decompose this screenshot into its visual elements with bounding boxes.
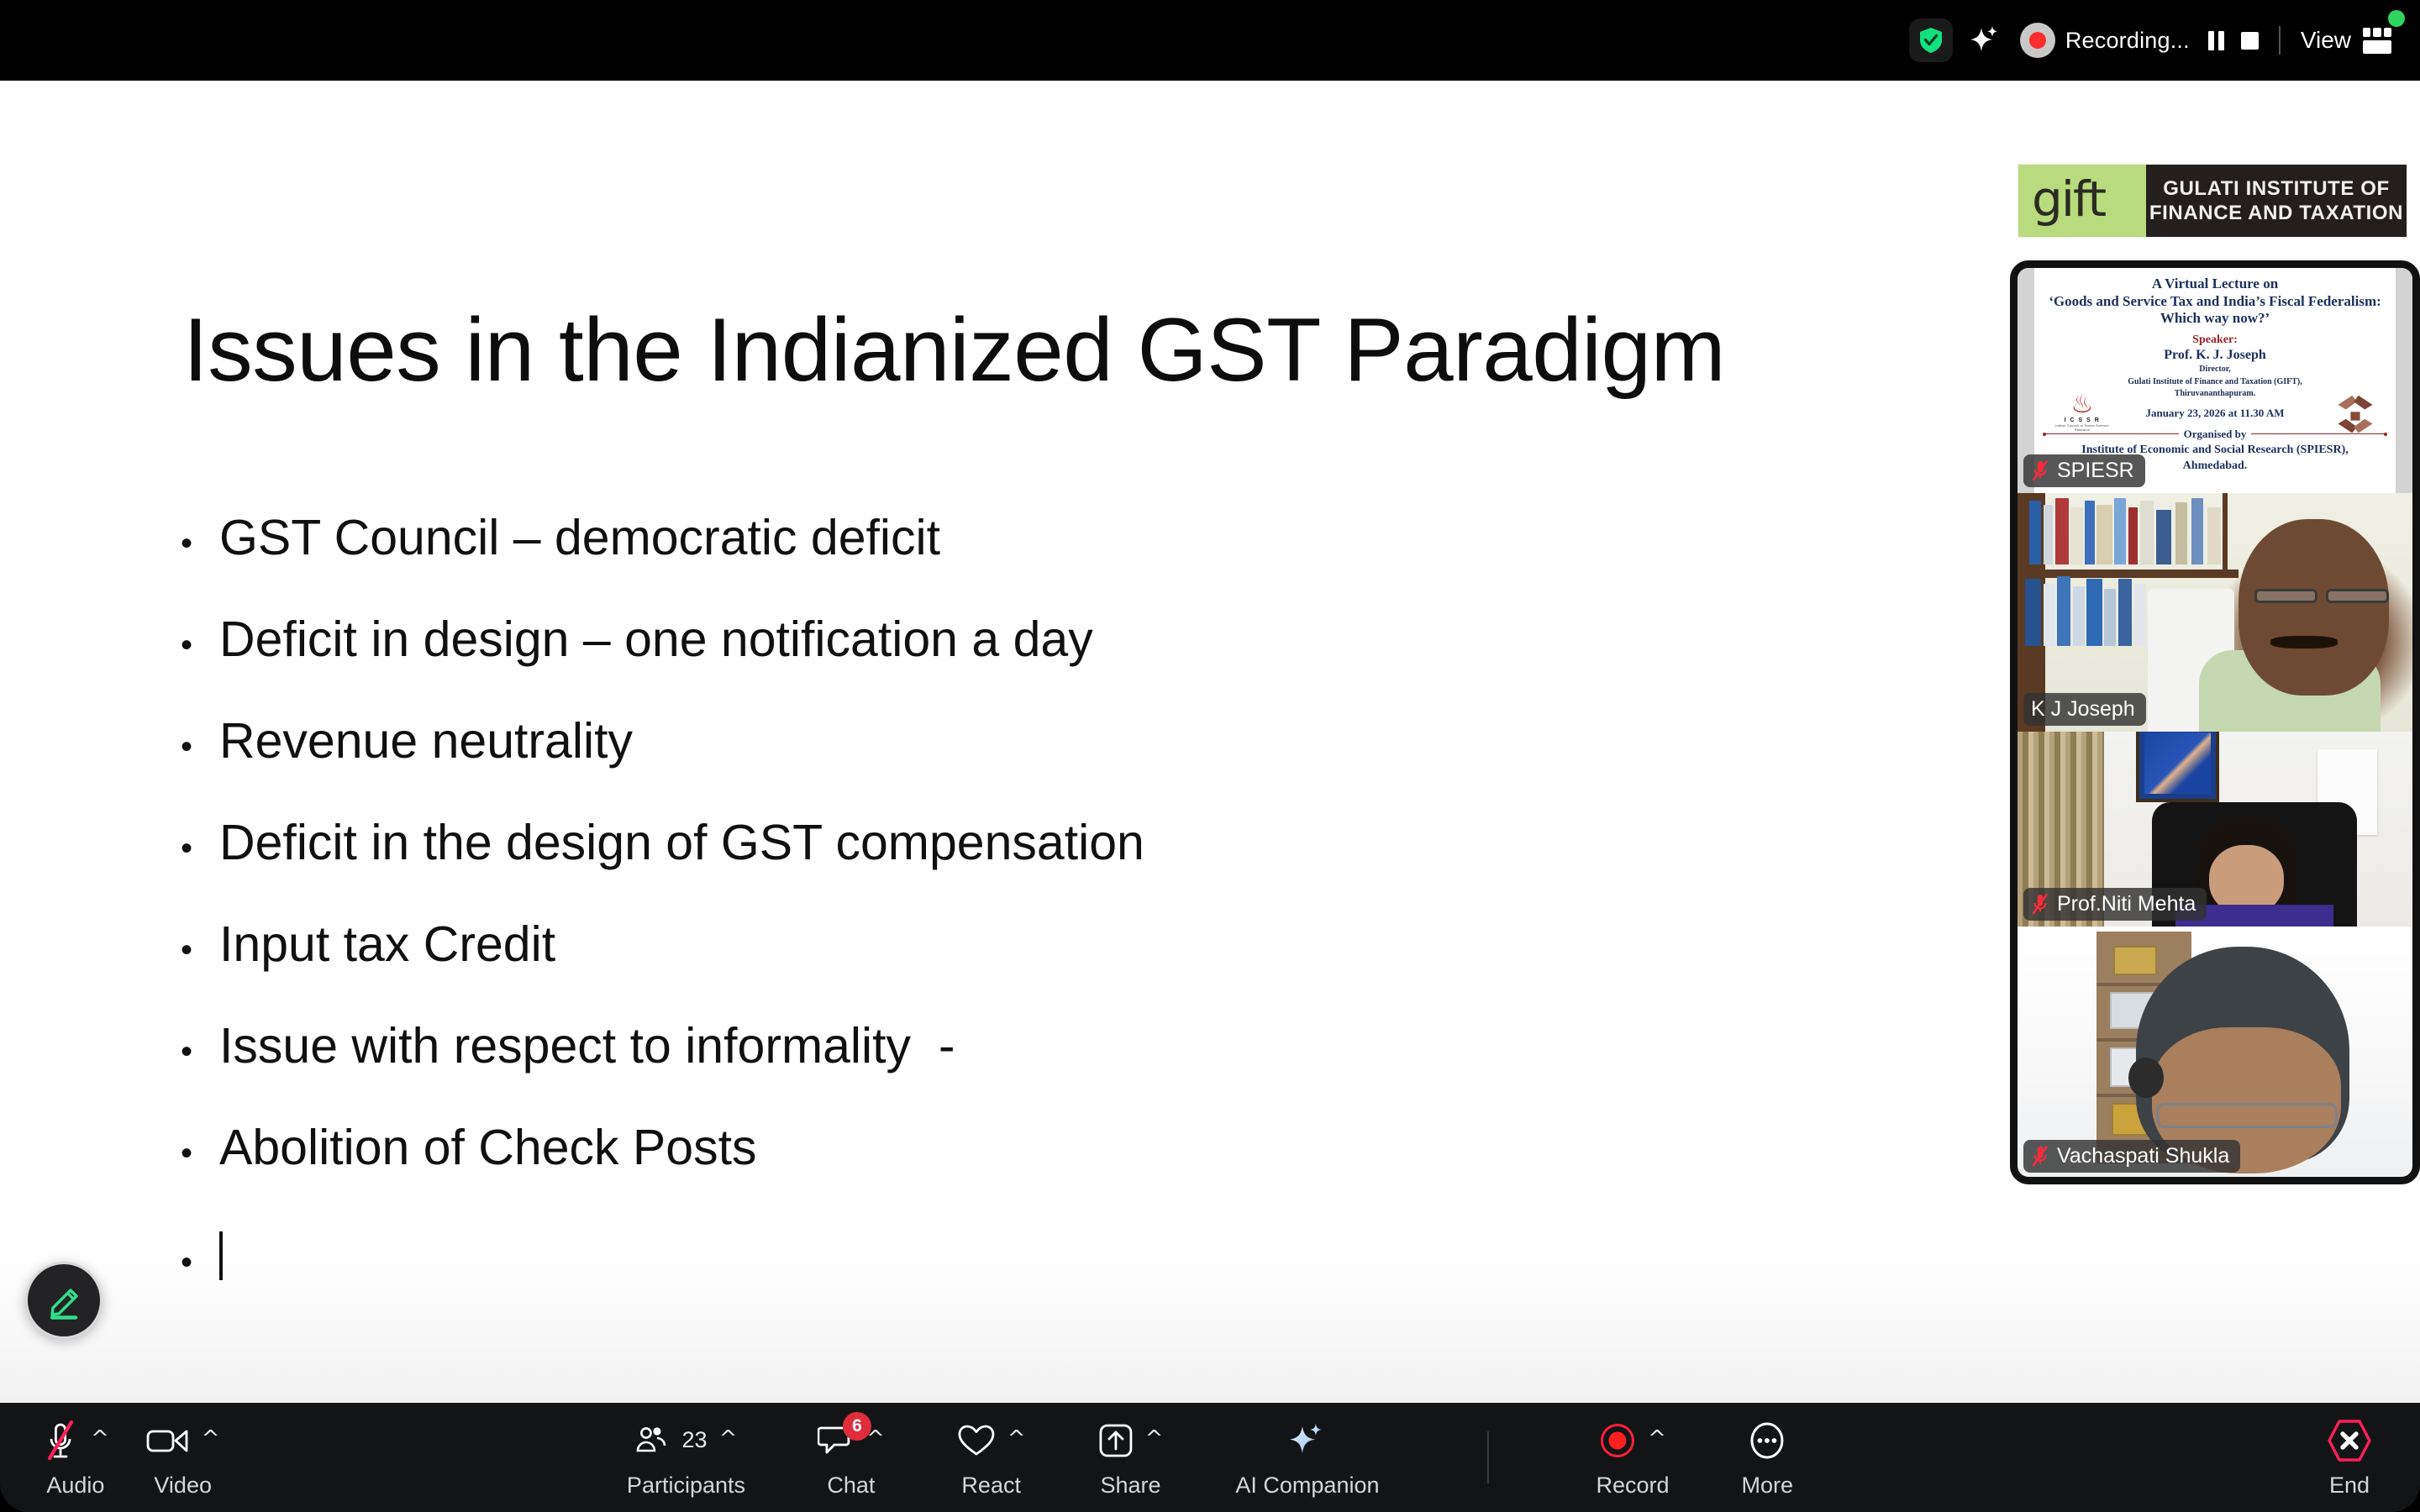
annotate-pencil-button[interactable] [25, 1262, 103, 1339]
poster-line-2: ‘Goods and Service Tax and India’s Fisca… [2049, 293, 2381, 311]
shield-check-icon[interactable] [1909, 18, 1953, 62]
toolbar-divider [2279, 26, 2281, 55]
participant-name-badge: SPIESR [2023, 454, 2145, 487]
record-button-label: Record [1597, 1473, 1670, 1499]
bullet-marker: • [181, 1035, 219, 1068]
meeting-top-bar: Recording... View [0, 0, 2420, 81]
gift-logo-line1: GULATI INSTITUTE OF [2163, 176, 2390, 201]
poster-organised-by: Organised by [2184, 428, 2247, 441]
poster-host-2: Ahmedabad. [2183, 459, 2248, 474]
record-circle-icon[interactable] [1599, 1422, 1636, 1459]
poster-affiliation-1: Director, [2043, 365, 2387, 375]
gift-logo-name: GULATI INSTITUTE OF FINANCE AND TAXATION [2146, 165, 2407, 237]
share-button[interactable]: ^ Share [1098, 1417, 1164, 1499]
chevron-up-icon[interactable]: ^ [1648, 1428, 1666, 1450]
end-meeting-label: End [2329, 1473, 2370, 1499]
list-item: • [181, 1225, 1144, 1279]
zoom-meeting-window: Recording... View Issues in the Indianiz… [0, 0, 2420, 1512]
record-button[interactable]: ^ Record [1597, 1417, 1670, 1499]
participant-name-badge: K J Joseph [2023, 693, 2146, 726]
participants-button-label: Participants [627, 1473, 745, 1499]
bullet-marker: • [181, 933, 219, 967]
bullet-text: Issue with respect to informality - [219, 1021, 955, 1071]
list-item: •Issue with respect to informality - [181, 1021, 1144, 1071]
share-arrow-up-icon[interactable] [1098, 1423, 1134, 1458]
bullet-text: Deficit in design – one notification a d… [219, 615, 1093, 664]
more-button-label: More [1742, 1473, 1794, 1499]
sparkle-icon[interactable] [1287, 1421, 1328, 1460]
participants-count: 23 [682, 1427, 708, 1453]
bullet-marker: • [181, 628, 219, 662]
gift-logo-line2: FINANCE AND TAXATION [2149, 201, 2403, 225]
participant-name: K J Joseph [2031, 697, 2135, 722]
participant-name-badge: Vachaspati Shukla [2023, 1140, 2240, 1173]
video-button[interactable]: ^ Video [146, 1417, 220, 1499]
list-item: •GST Council – democratic deficit [181, 513, 1144, 563]
stop-icon[interactable] [2241, 32, 2259, 50]
pencil-annotate-icon [43, 1279, 85, 1321]
bullet-text: Deficit in the design of GST compensatio… [219, 818, 1144, 868]
bullet-text: Revenue neutrality [219, 717, 633, 766]
view-button-label[interactable]: View [2301, 27, 2351, 54]
gift-logo: gift GULATI INSTITUTE OF FINANCE AND TAX… [2018, 165, 2407, 237]
microphone-muted-icon [2031, 1145, 2049, 1168]
icssr-logo-subtext: Indian Council of Social Science Researc… [2053, 423, 2112, 432]
status-indicator-dot [2388, 10, 2405, 27]
list-item: •Revenue neutrality [181, 717, 1144, 766]
slide-bullet-list: •GST Council – democratic deficit •Defic… [181, 513, 1144, 1331]
end-meeting-button[interactable]: End [2326, 1417, 2373, 1499]
participant-name: Prof.Niti Mehta [2057, 892, 2196, 916]
bullet-marker: • [181, 1246, 219, 1279]
heart-icon[interactable] [957, 1424, 996, 1457]
icssr-logo: ♨ I C S S R Indian Council of Social Sci… [2053, 394, 2112, 432]
chat-button-label: Chat [827, 1473, 875, 1499]
chat-bubble-icon[interactable]: 6 [818, 1423, 855, 1458]
more-dots-icon[interactable] [1748, 1421, 1786, 1460]
icssr-logo-text: I C S S R [2053, 417, 2112, 423]
participant-name: Vachaspati Shukla [2057, 1144, 2229, 1168]
toolbar-divider [1487, 1431, 1489, 1483]
participant-name-badge: Prof.Niti Mehta [2023, 888, 2207, 921]
video-tile-k-j-joseph[interactable]: K J Joseph [2018, 493, 2412, 732]
chevron-up-icon[interactable]: ^ [866, 1428, 885, 1450]
list-item: •Deficit in the design of GST compensati… [181, 818, 1144, 868]
end-call-x-icon[interactable] [2326, 1417, 2373, 1464]
list-item: •Deficit in design – one notification a … [181, 615, 1144, 664]
spiesr-logo [2332, 392, 2379, 439]
recording-indicator-icon [2020, 23, 2055, 58]
icssr-flame-icon: ♨ [2053, 394, 2112, 416]
bullet-marker: • [181, 527, 219, 560]
video-button-label: Video [154, 1473, 212, 1499]
chevron-up-icon[interactable]: ^ [1007, 1428, 1026, 1450]
bullet-marker: • [181, 832, 219, 865]
poster-line-3: Which way now?’ [2160, 310, 2270, 328]
layout-grid-icon[interactable] [2363, 28, 2391, 54]
participants-video-strip: A Virtual Lecture on ‘Goods and Service … [2010, 260, 2420, 1184]
chevron-up-icon[interactable]: ^ [1145, 1428, 1164, 1450]
slide-title: Issues in the Indianized GST Paradigm [183, 297, 1725, 402]
ai-companion-button-label: AI Companion [1235, 1473, 1379, 1499]
participants-button[interactable]: 23 ^ Participants [627, 1417, 745, 1499]
chat-button[interactable]: 6 ^ Chat [818, 1417, 885, 1499]
list-item: •Input tax Credit [181, 920, 1144, 969]
bullet-marker: • [181, 730, 219, 764]
poster-affiliation-2: Gulati Institute of Finance and Taxation… [2043, 377, 2387, 388]
bullet-text: GST Council – democratic deficit [219, 513, 940, 563]
microphone-muted-icon [2031, 893, 2049, 916]
react-button[interactable]: ^ React [957, 1417, 1026, 1499]
pause-icon[interactable] [2208, 31, 2224, 50]
recording-status-label: Recording... [2065, 28, 2190, 54]
audio-button[interactable]: ^ Audio [42, 1417, 109, 1499]
audio-button-label: Audio [46, 1473, 104, 1499]
list-item: •Abolition of Check Posts [181, 1123, 1144, 1173]
microphone-muted-icon [2031, 459, 2049, 482]
video-tile-vachaspati-shukla[interactable]: Vachaspati Shukla [2018, 927, 2412, 1179]
participant-name: SPIESR [2057, 459, 2134, 483]
share-button-label: Share [1100, 1473, 1160, 1499]
gift-logo-mark: gift [2018, 165, 2146, 237]
chevron-up-icon[interactable]: ^ [719, 1428, 738, 1450]
gift-logo-wordmark: gift [2032, 177, 2105, 221]
camera-icon[interactable] [146, 1425, 190, 1456]
poster-line-1: A Virtual Lecture on [2152, 276, 2278, 293]
bullet-marker: • [181, 1137, 219, 1170]
divider-line-right [2251, 433, 2387, 434]
react-button-label: React [961, 1473, 1021, 1499]
participants-icon[interactable] [635, 1425, 671, 1457]
chevron-up-icon[interactable]: ^ [91, 1428, 109, 1450]
sparkle-icon[interactable] [1965, 20, 2005, 60]
divider-line-left [2043, 433, 2179, 434]
microphone-muted-icon[interactable] [42, 1420, 79, 1462]
meeting-control-toolbar: ^ Audio ^ Video [0, 1403, 2420, 1512]
bullet-text: Input tax Credit [219, 920, 555, 969]
more-button[interactable]: More [1742, 1417, 1794, 1499]
bullet-text: Abolition of Check Posts [219, 1123, 757, 1173]
video-tile-spiesr[interactable]: A Virtual Lecture on ‘Goods and Service … [2018, 268, 2412, 493]
ai-companion-button[interactable]: AI Companion [1235, 1417, 1379, 1499]
poster-speaker-label: Speaker: [2043, 333, 2387, 347]
chevron-up-icon[interactable]: ^ [202, 1428, 220, 1450]
text-cursor [219, 1231, 223, 1280]
video-tile-niti-mehta[interactable]: Prof.Niti Mehta [2018, 732, 2412, 927]
poster-speaker-name: Prof. K. J. Joseph [2043, 348, 2387, 363]
